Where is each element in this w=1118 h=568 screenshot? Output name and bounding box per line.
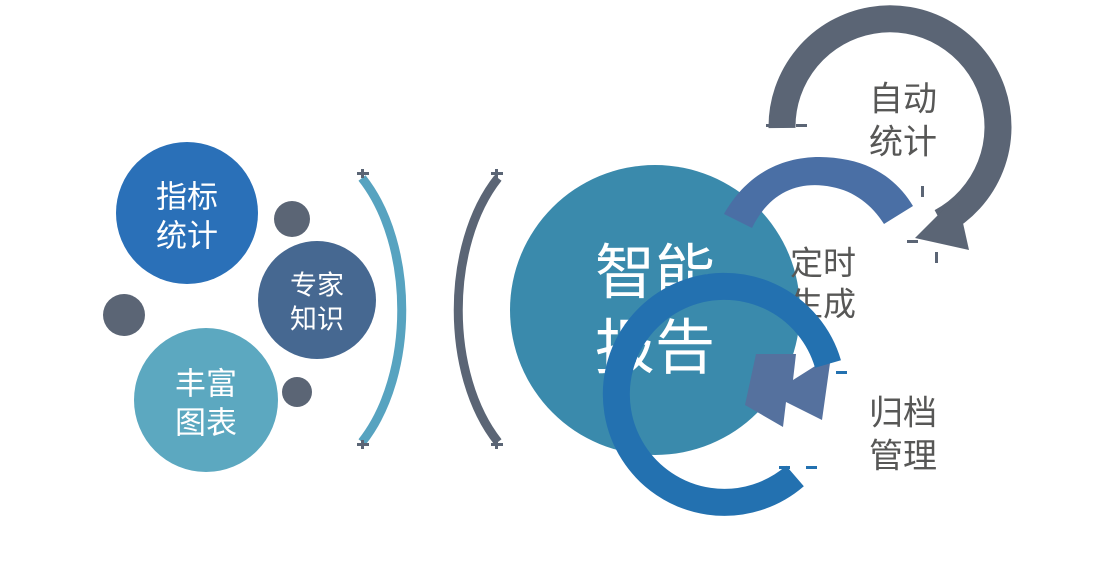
process-ring-archive-management-label-line1: 归档 xyxy=(869,394,937,434)
accent-dot-left xyxy=(103,294,145,336)
feature-bubble-label-line2: 图表 xyxy=(175,406,237,442)
feature-bubble-label-line2: 知识 xyxy=(290,305,344,336)
accent-dot-top xyxy=(274,201,310,237)
feature-bubble-label-line2: 统计 xyxy=(156,219,218,255)
bracket-right-arc[interactable] xyxy=(458,169,503,449)
process-ring-archive-management-label-line2: 管理 xyxy=(869,437,937,477)
smartart-diagram: 指标 统计 专家 知识 丰富 图表 xyxy=(0,0,1118,568)
process-ring-auto-stats[interactable]: 自动 统计 xyxy=(766,19,998,263)
connector-top-band-path xyxy=(724,157,913,228)
diagram-canvas: 指标 统计 专家 知识 丰富 图表 xyxy=(0,0,1118,568)
process-ring-auto-stats-label-line1: 自动 xyxy=(869,80,937,120)
free-label-line1: 定时 xyxy=(790,244,856,283)
feature-bubble-rich-charts[interactable]: 丰富 图表 xyxy=(134,328,278,472)
process-ring-auto-stats-label-line2: 统计 xyxy=(869,123,937,163)
process-ring-archive-management-handle-bottom[interactable] xyxy=(779,466,817,469)
accent-dot-bottom xyxy=(282,377,312,407)
feature-bubble-label-line1: 指标 xyxy=(156,180,218,216)
feature-bubble-expert-knowledge[interactable]: 专家 知识 xyxy=(258,241,376,359)
connector-top-curved-band[interactable] xyxy=(724,157,913,228)
bracket-right-arc-path xyxy=(458,178,498,442)
feature-bubble-label-line1: 专家 xyxy=(290,271,344,302)
bracket-right-handle-top[interactable] xyxy=(491,169,503,178)
feature-bubble-label-line1: 丰富 xyxy=(175,367,237,403)
feature-bubble-metric-stats[interactable]: 指标 统计 xyxy=(116,142,258,284)
bracket-left-handle-top[interactable] xyxy=(357,169,369,178)
